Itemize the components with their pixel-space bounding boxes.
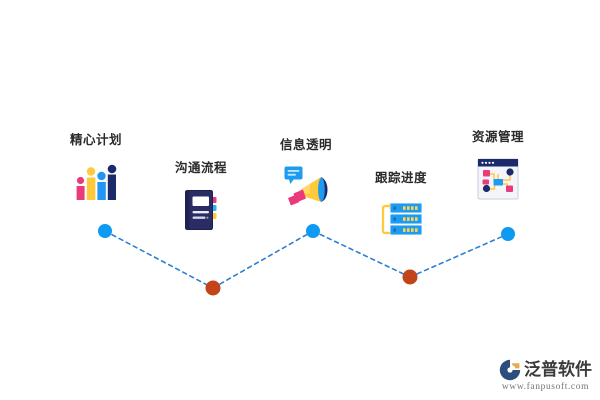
milestone-node-3[interactable]	[306, 224, 320, 238]
step-label-2: 沟通流程	[175, 162, 227, 175]
milestone-node-5[interactable]	[501, 227, 515, 241]
connector-dashed-lines	[105, 231, 508, 288]
step-label-4: 跟踪进度	[375, 172, 427, 185]
step-item-2[interactable]: 沟通流程	[175, 162, 227, 232]
step-icon-wrap-4	[375, 198, 427, 242]
milestone-node-2[interactable]	[206, 281, 221, 296]
diagram-canvas: 精心计划 沟通流程	[0, 0, 600, 400]
megaphone-icon	[283, 165, 329, 209]
notebook-icon	[184, 189, 218, 231]
step-item-1[interactable]: 精心计划	[70, 134, 122, 204]
milestone-node-1[interactable]	[98, 224, 112, 238]
connector-segment	[213, 231, 313, 288]
step-icon-wrap-3	[280, 165, 332, 209]
step-icon-wrap-2	[175, 188, 227, 232]
step-label-5: 资源管理	[472, 131, 524, 144]
bar-chart-icon	[74, 161, 118, 203]
step-label-3: 信息透明	[280, 139, 332, 152]
watermark-brand-text: 泛普软件	[524, 361, 592, 378]
watermark-brand-row: 泛普软件	[499, 359, 592, 381]
fanpu-swirl-logo-icon	[499, 359, 521, 381]
step-item-3[interactable]: 信息透明	[280, 139, 332, 209]
watermark-url: www.fanpusoft.com	[502, 383, 589, 393]
connector-node-group	[98, 224, 515, 296]
network-window-icon	[477, 158, 519, 200]
connector-segment	[105, 231, 213, 288]
step-item-4[interactable]: 跟踪进度	[375, 172, 427, 242]
step-icon-wrap-1	[70, 160, 122, 204]
step-item-5[interactable]: 资源管理	[472, 131, 524, 201]
step-icon-wrap-5	[472, 157, 524, 201]
watermark: 泛普软件 www.fanpusoft.com	[499, 359, 592, 393]
step-label-1: 精心计划	[70, 134, 122, 147]
milestone-node-4[interactable]	[403, 270, 418, 285]
server-stack-icon	[379, 201, 423, 239]
